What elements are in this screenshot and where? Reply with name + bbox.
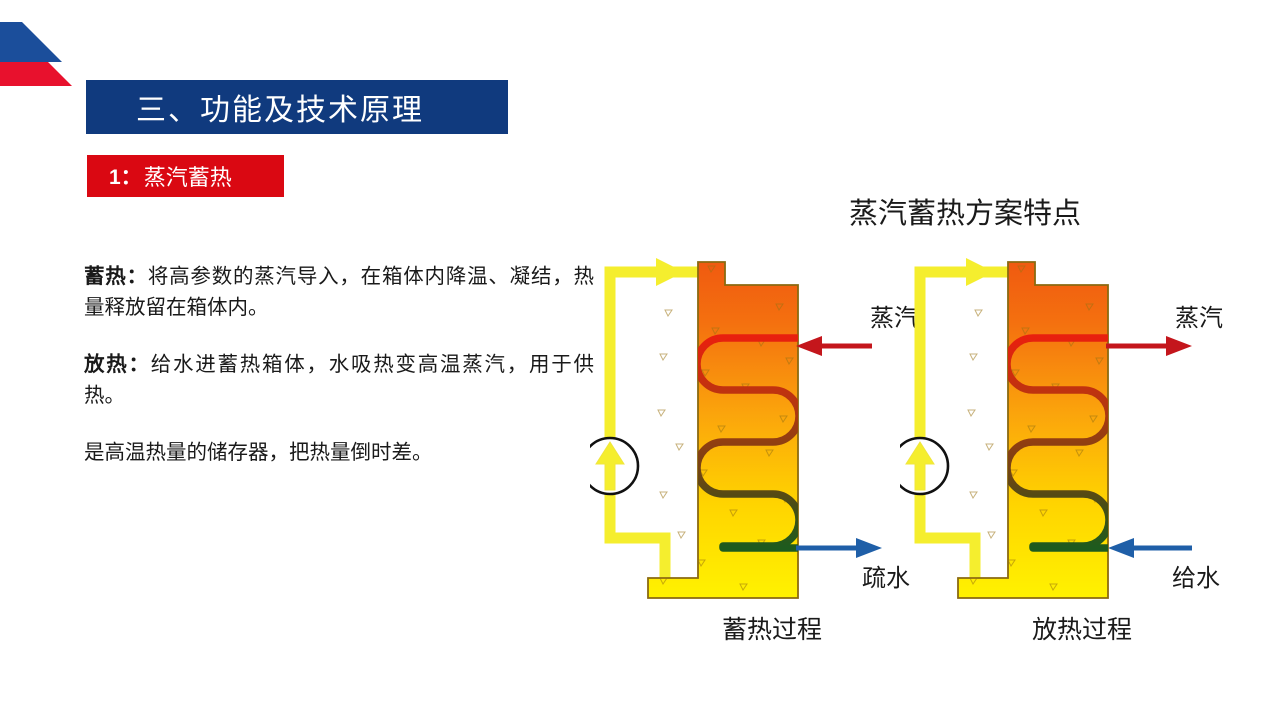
paragraph-summary: 是高温热量的储存器，把热量倒时差。 <box>84 438 594 469</box>
loop-pipe-right <box>920 258 1022 588</box>
paragraph-release-text: 给水进蓄热箱体，水吸热变高温蒸汽，用于供热。 <box>84 354 594 407</box>
paragraph-release: 放热：给水进蓄热箱体，水吸热变高温蒸汽，用于供热。 <box>84 350 594 412</box>
pump-icon-left <box>590 438 638 494</box>
feedwater-label-right: 给水 <box>1172 565 1220 592</box>
paragraph-storage-text: 将高参数的蒸汽导入，在箱体内降温、凝结，热量释放留在箱体内。 <box>84 266 594 319</box>
diagram-release-process: 蒸汽 给水 放热过程 <box>900 248 1260 668</box>
sub-header-badge: 1： 蒸汽蓄热 <box>87 155 284 197</box>
steam-arrow-right <box>1106 336 1192 356</box>
section-header-title: 三、功能及技术原理 <box>136 85 424 129</box>
section-header-bar: 三、功能及技术原理 <box>86 80 508 134</box>
body-text-block: 蓄热：将高参数的蒸汽导入，在箱体内降温、凝结，热量释放留在箱体内。 放热：给水进… <box>84 262 594 469</box>
caption-right: 放热过程 <box>1032 616 1132 644</box>
diagram-panel: 蒸汽蓄热方案特点 <box>590 190 1270 670</box>
loop-pipe-left <box>610 258 712 588</box>
drain-arrow-left <box>796 538 882 558</box>
steam-arrow-left <box>796 336 872 356</box>
paragraph-storage: 蓄热：将高参数的蒸汽导入，在箱体内降温、凝结，热量释放留在箱体内。 <box>84 262 594 324</box>
diagram-title: 蒸汽蓄热方案特点 <box>590 190 1270 232</box>
sub-header-title: 蒸汽蓄热 <box>144 160 232 192</box>
paragraph-summary-text: 是高温热量的储存器，把热量倒时差。 <box>84 442 433 464</box>
corner-blue-triangle <box>0 22 62 62</box>
paragraph-storage-lead: 蓄热： <box>84 266 148 288</box>
caption-left: 蓄热过程 <box>722 616 822 644</box>
steam-label-right: 蒸汽 <box>1175 305 1223 332</box>
diagram-storage-process: 蒸汽 疏水 蓄热过程 <box>590 248 950 668</box>
pump-icon-right <box>900 438 948 494</box>
paragraph-release-lead: 放热： <box>84 354 151 376</box>
sub-header-number: 1： <box>109 161 142 191</box>
feedwater-arrow-right <box>1108 538 1192 558</box>
